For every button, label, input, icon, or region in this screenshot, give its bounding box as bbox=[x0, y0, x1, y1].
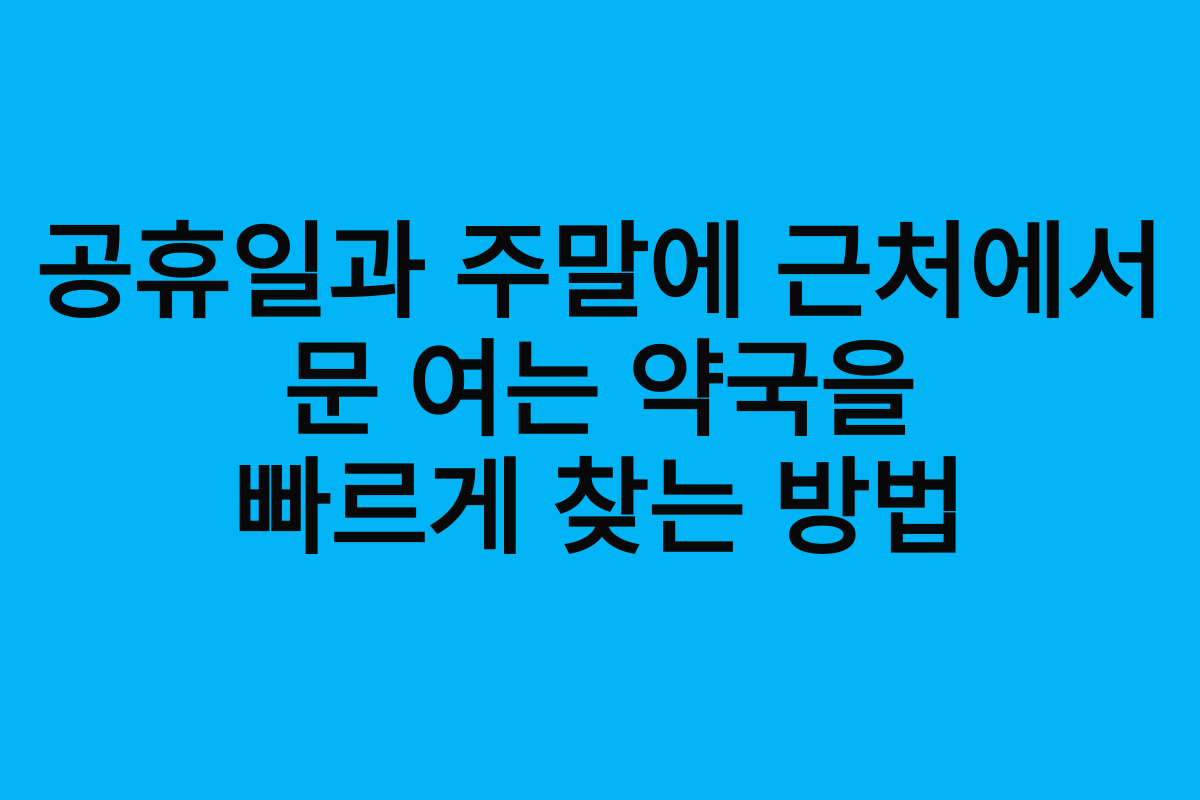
headline-line-3: 빠르게 찾는 방법 bbox=[234, 457, 966, 561]
headline-line-2: 문 여는 약국을 bbox=[284, 339, 916, 443]
headline-block: 공휴일과 주말에 근처에서 문 여는 약국을 빠르게 찾는 방법 bbox=[0, 0, 1200, 800]
headline-line-1: 공휴일과 주말에 근처에서 bbox=[36, 221, 1164, 325]
banner-canvas: 공휴일과 주말에 근처에서 문 여는 약국을 빠르게 찾는 방법 bbox=[0, 0, 1200, 800]
